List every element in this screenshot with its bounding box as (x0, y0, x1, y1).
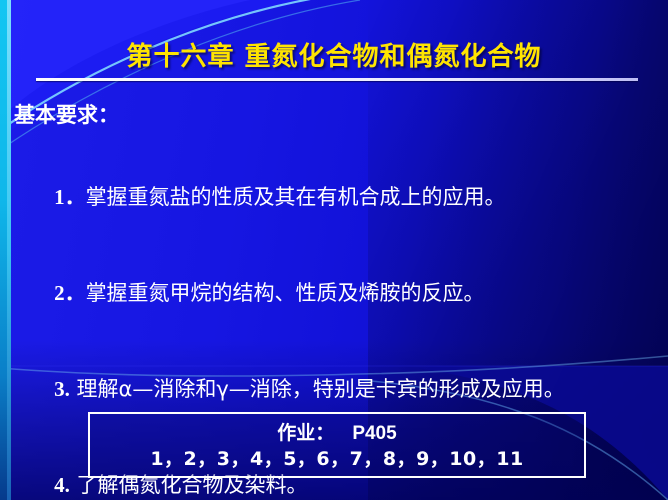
list-item-number: 3. (54, 377, 70, 401)
list-item: 1．掌握重氮盐的性质及其在有机合成上的应用。 (14, 152, 654, 242)
list-item-text: 掌握重氮甲烷的结构、性质及烯胺的反应。 (86, 281, 485, 305)
left-accent-bar (0, 0, 11, 500)
homework-page: P405 (352, 423, 396, 444)
homework-heading: 作业：P405 (90, 418, 584, 445)
homework-numbers: 1，2，3，4，5，6，7，8，9，10，11 (90, 444, 584, 471)
homework-box: 作业：P405 1，2，3，4，5，6，7，8，9，10，11 (88, 412, 586, 478)
requirements-heading: 基本要求： (14, 100, 654, 130)
list-item-number: 1． (54, 185, 86, 209)
list-item-text: 理解α—消除和γ—消除，特别是卡宾的形成及应用。 (70, 377, 565, 401)
list-item-number: 2． (54, 281, 86, 305)
slide-title: 第十六章 重氮化合物和偶氮化合物 (0, 36, 668, 73)
title-underline (36, 78, 638, 81)
list-item-text: 掌握重氮盐的性质及其在有机合成上的应用。 (86, 185, 506, 209)
list-item: 2．掌握重氮甲烷的结构、性质及烯胺的反应。 (14, 248, 654, 338)
list-item-number: 4. (54, 473, 70, 497)
left-accent-highlight (7, 0, 11, 500)
homework-label: 作业： (277, 422, 334, 444)
slide: 第十六章 重氮化合物和偶氮化合物 基本要求： 1．掌握重氮盐的性质及其在有机合成… (0, 0, 668, 500)
